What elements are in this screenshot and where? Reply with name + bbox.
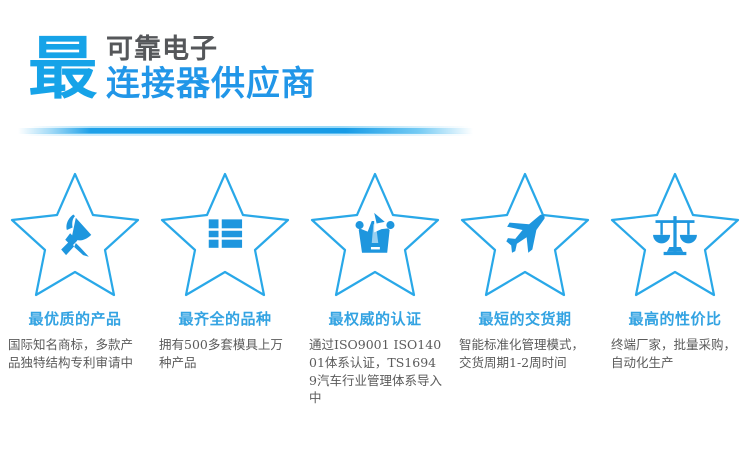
feature-list: 最优质的产品 国际知名商标，多款产品独特结构专利审请中 <box>0 168 752 407</box>
feature-description: 通过ISO9001 ISO14001体系认证，TS16949汽车行业管理体系导入… <box>307 336 443 407</box>
feature-description: 终端厂家，批量采购，自动化生产 <box>605 336 745 372</box>
star-outline-icon <box>157 168 293 300</box>
star-badge <box>7 168 143 300</box>
star-outline-icon <box>607 168 743 300</box>
star-badge <box>457 168 593 300</box>
promo-banner: 最 可靠电子 连接器供应商 <box>0 0 752 454</box>
header-divider-glow <box>24 133 474 136</box>
star-outline-icon <box>7 168 143 300</box>
headline-line-top: 可靠电子 <box>106 36 316 64</box>
feature-title: 最短的交货期 <box>478 308 571 329</box>
star-outline-icon <box>457 168 593 300</box>
headline-line-bottom: 连接器供应商 <box>106 66 316 103</box>
star-badge <box>157 168 293 300</box>
feature-title: 最齐全的品种 <box>178 308 271 329</box>
star-badge <box>307 168 443 300</box>
star-badge <box>607 168 743 300</box>
feature-description: 拥有500多套模具上万种产品 <box>157 336 293 372</box>
headline-big-character: 最 <box>28 38 97 103</box>
headline-lines: 可靠电子 连接器供应商 <box>106 36 316 104</box>
feature-item: 最权威的认证 通过ISO9001 ISO14001体系认证，TS16949汽车行… <box>300 168 450 407</box>
star-outline-icon <box>307 168 443 300</box>
feature-item: 最优质的产品 国际知名商标，多款产品独特结构专利审请中 <box>0 168 150 407</box>
feature-title: 最优质的产品 <box>28 308 121 329</box>
feature-title: 最高的性价比 <box>628 308 721 329</box>
feature-item: 最齐全的品种 拥有500多套模具上万种产品 <box>150 168 300 407</box>
feature-item: 最短的交货期 智能标准化管理模式，交货周期1-2周时间 <box>450 168 600 407</box>
feature-item: 最高的性价比 终端厂家，批量采购，自动化生产 <box>600 168 750 407</box>
feature-title: 最权威的认证 <box>328 308 421 329</box>
feature-description: 国际知名商标，多款产品独特结构专利审请中 <box>8 336 142 372</box>
feature-description: 智能标准化管理模式，交货周期1-2周时间 <box>457 336 593 372</box>
banner-header: 最 可靠电子 连接器供应商 <box>0 0 752 150</box>
headline: 最 可靠电子 连接器供应商 <box>28 34 316 104</box>
